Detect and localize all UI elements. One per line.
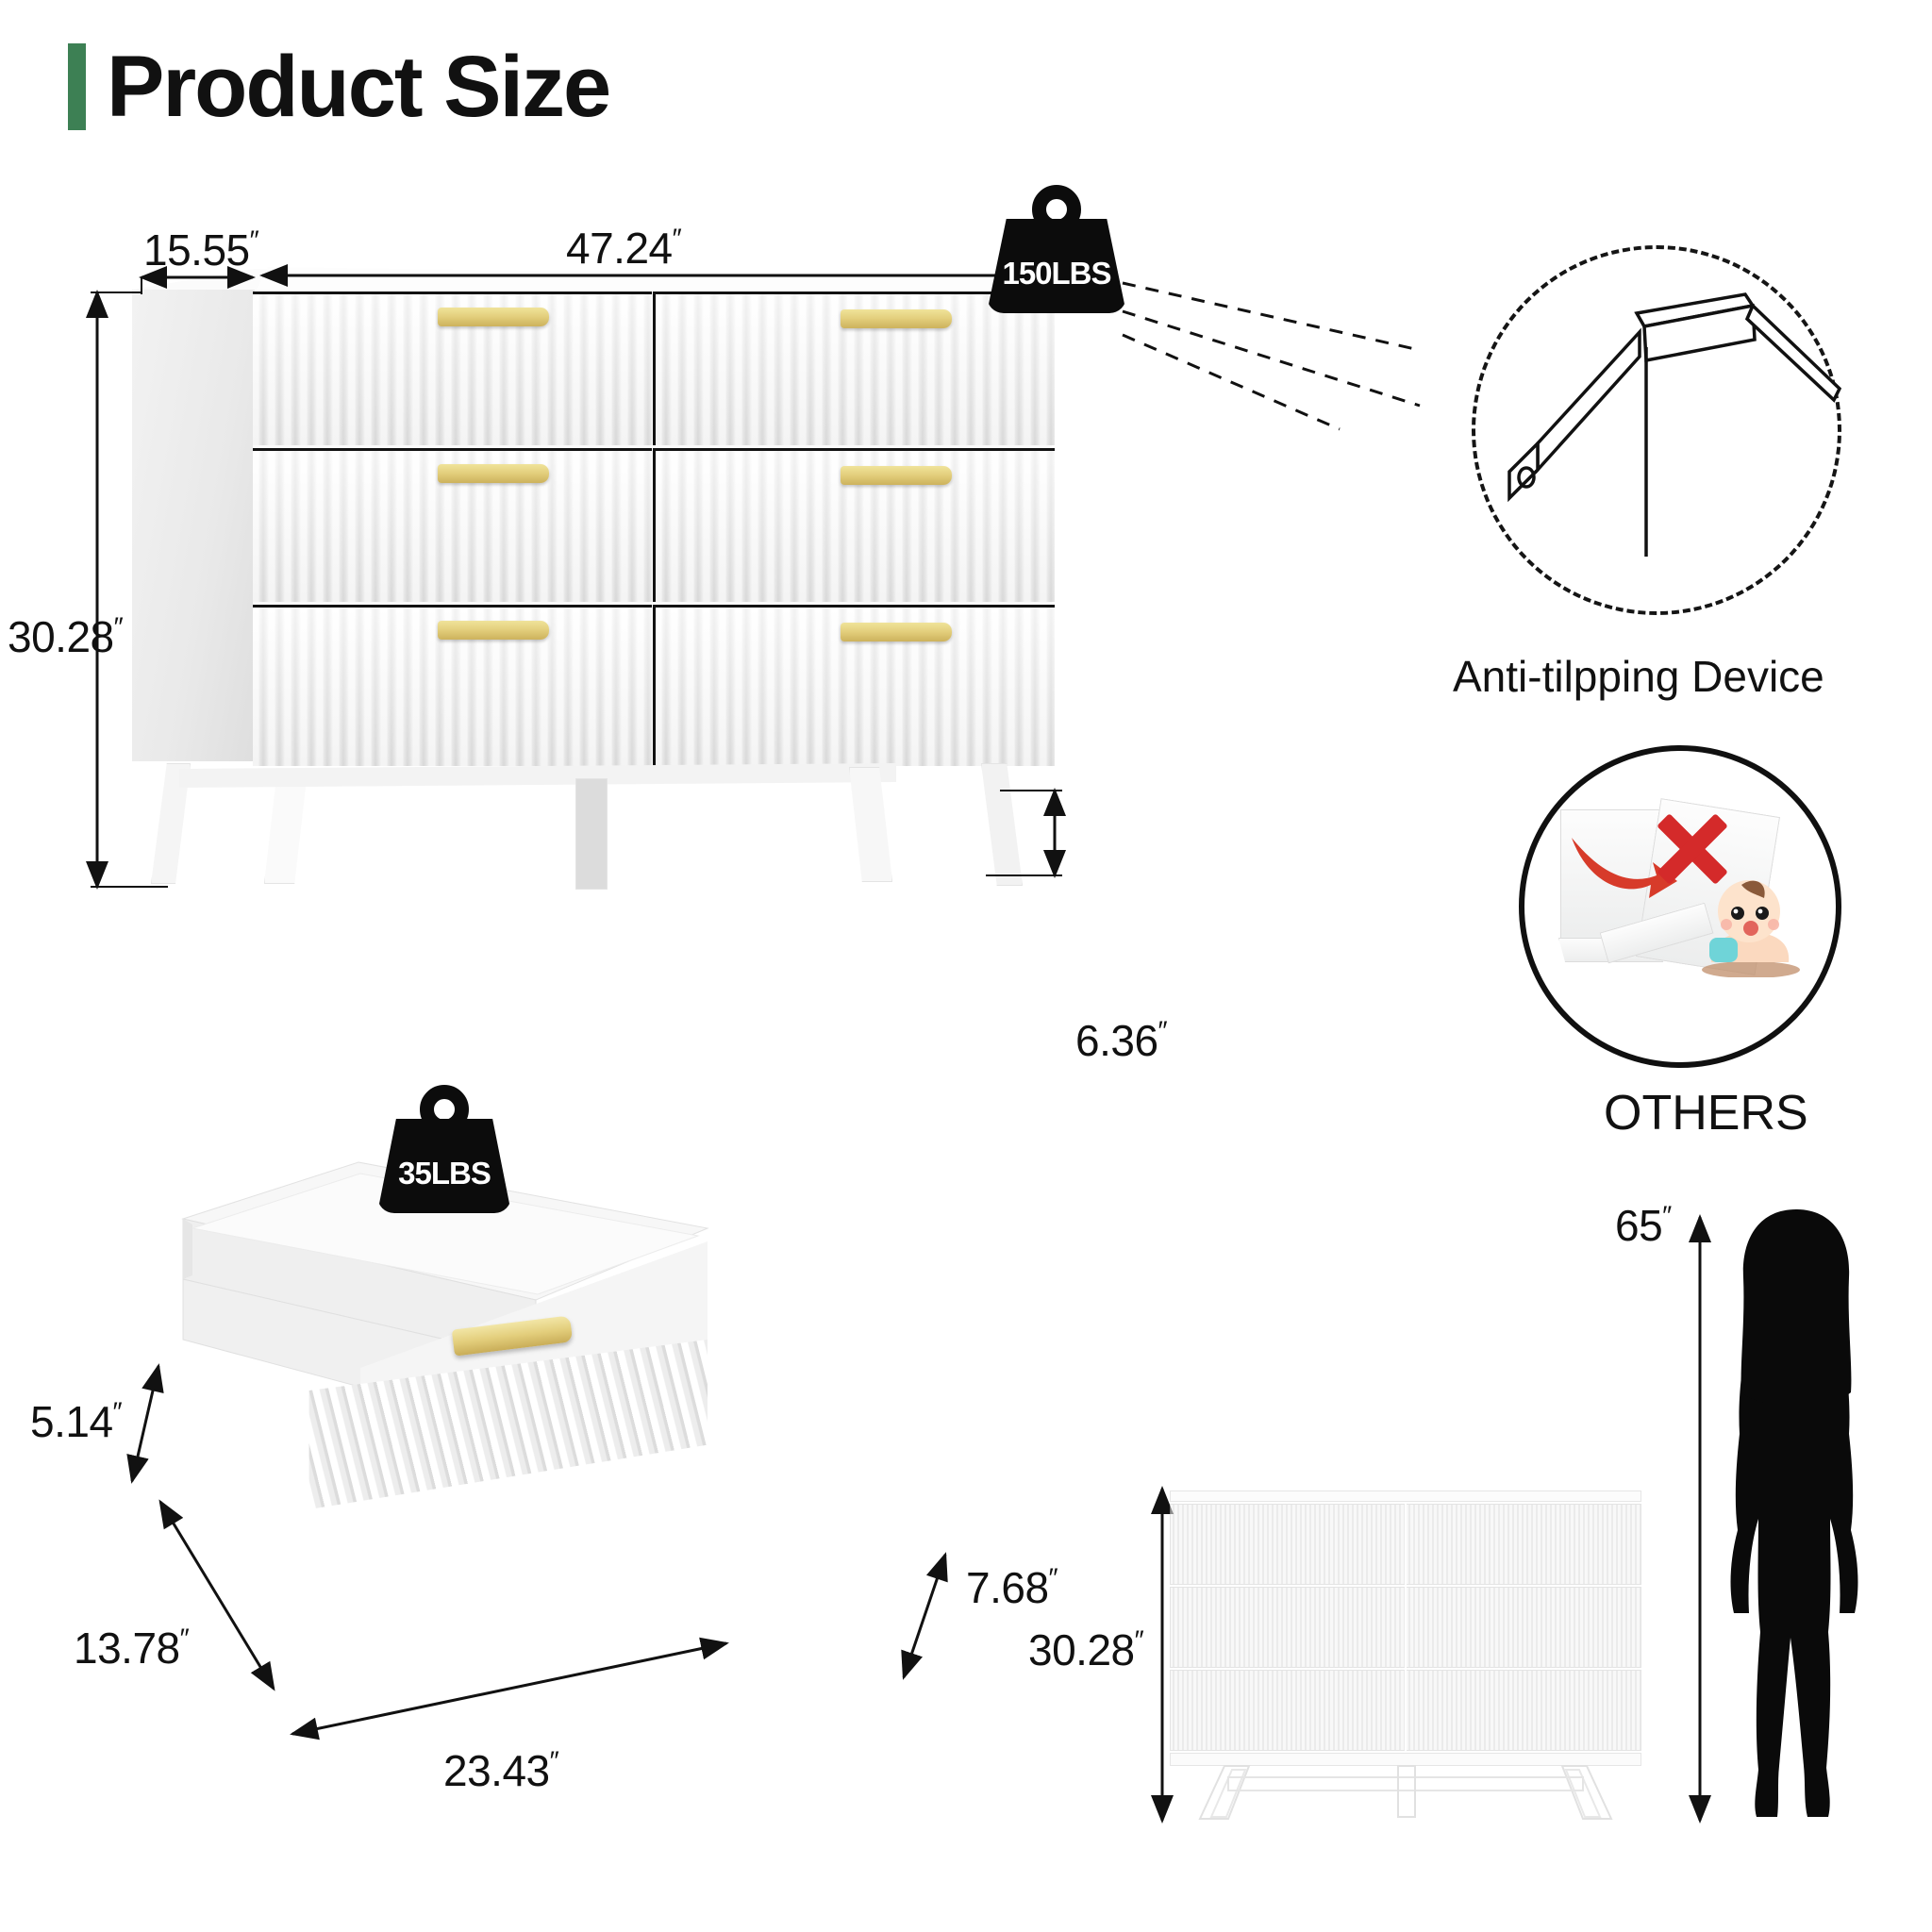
anti-tip-bracket-icon (1472, 245, 1841, 615)
dresser-side-panel (132, 290, 255, 761)
scale-reference-dresser (1170, 1491, 1641, 1821)
page-title: Product Size (68, 43, 609, 130)
main-dresser-illustration (132, 269, 1052, 783)
dresser-legs (151, 763, 1057, 895)
person-silhouette (1698, 1207, 1906, 1830)
page-title-text: Product Size (107, 43, 609, 130)
weight-body-icon: 150LBS (987, 219, 1126, 313)
drawer-row3-left (253, 605, 652, 766)
drawer-row2-left (253, 448, 652, 602)
weight-capacity-badge-150: 150LBS (987, 185, 1126, 325)
leg-center-support (575, 778, 608, 890)
dimension-width-label: 47.24″ (566, 223, 681, 274)
leg-back-left (264, 771, 308, 884)
weight-capacity-label: 150LBS (1002, 256, 1110, 291)
leg-back-right (849, 767, 892, 882)
dimension-depth-label: 15.55″ (143, 225, 258, 275)
dresser-drawer-front-area (253, 291, 1052, 763)
weight-capacity-label: 35LBS (398, 1156, 491, 1191)
drawer-row2-right (653, 448, 1055, 602)
anti-tipping-label: Anti-tilpping Device (1453, 651, 1824, 702)
others-warning-circle (1519, 745, 1841, 1068)
drawer-handle (438, 464, 549, 483)
dimension-leg-height-label: 6.36″ (1075, 1015, 1167, 1066)
title-accent-bar (68, 43, 86, 130)
drawer-handle (438, 621, 549, 640)
baby-icon (1689, 872, 1811, 977)
drawer-depth-label: 13.78″ (74, 1623, 189, 1674)
weight-body-icon: 35LBS (377, 1119, 511, 1213)
mini-dresser-height-label: 30.28″ (1028, 1624, 1143, 1675)
drawer-row1-left (253, 291, 652, 445)
others-label: OTHERS (1604, 1085, 1808, 1141)
drawer-width-label: 23.43″ (443, 1745, 558, 1796)
drawer-row3-right (653, 605, 1055, 766)
drawer-handle (841, 623, 952, 641)
weight-capacity-badge-35: 35LBS (377, 1085, 511, 1219)
ref-dresser-legs (1170, 1762, 1641, 1828)
drawer-handle (841, 466, 952, 485)
drawer-front-height-label: 7.68″ (966, 1562, 1058, 1613)
leg-rail (179, 763, 896, 788)
ref-dresser-top (1170, 1491, 1641, 1502)
ref-center-divider (1405, 1504, 1407, 1751)
leg-front-right (981, 763, 1023, 886)
drawer-handle (438, 308, 549, 326)
drawer-height-label: 5.14″ (30, 1396, 122, 1447)
person-height-label: 65″ (1615, 1200, 1671, 1251)
drawer-handle (841, 309, 952, 328)
dimension-height-label: 30.28″ (8, 611, 123, 662)
